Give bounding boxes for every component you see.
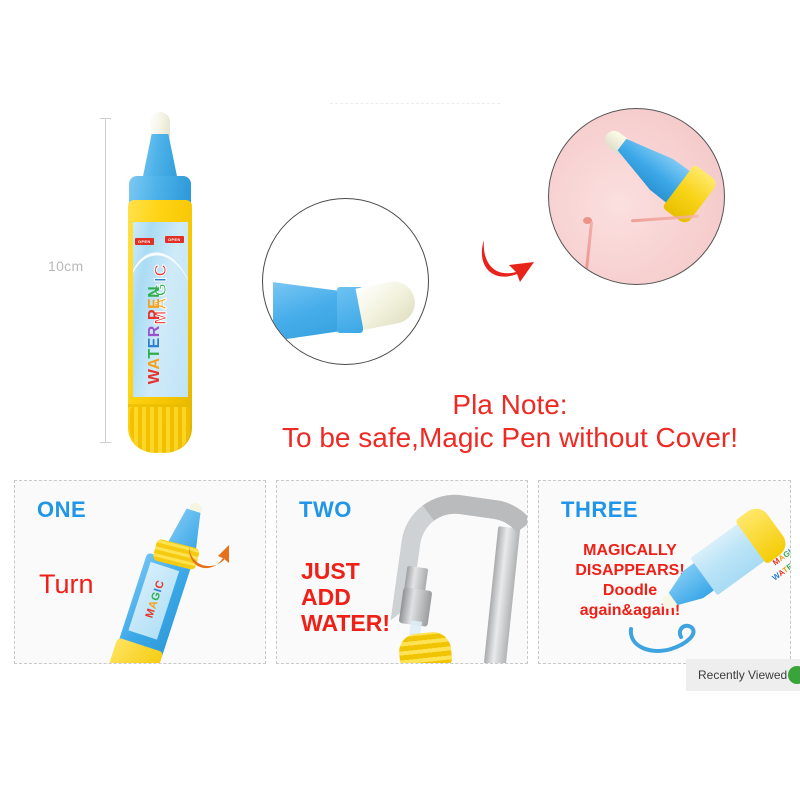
steps-panel-row: ONE Turn MAGIC TWO JUST ADD WATER! [14, 480, 789, 662]
step-panel-three: THREE MAGICALLY DISAPPEARS! Doodle again… [538, 480, 791, 664]
safety-note: Pla Note: To be safe,Magic Pen without C… [225, 388, 795, 454]
size-label: 10cm [48, 258, 83, 274]
rotate-arrow-icon [185, 539, 231, 579]
pen-cap-filling-icon [397, 630, 452, 664]
doodle-icon [627, 619, 713, 659]
pen-label-wrap: OPEN OPEN MAGIC WATER PEN [133, 222, 188, 397]
ink-stroke-vertical [584, 221, 593, 281]
note-line-1: Pla Note: [225, 388, 795, 421]
step-text-two: JUST ADD WATER! [301, 559, 390, 636]
faucet-icon [383, 481, 528, 663]
note-line-2: To be safe,Magic Pen without Cover! [225, 421, 795, 454]
closeup-drawing-pen [584, 108, 725, 244]
pen-drawing-closeup-circle [548, 108, 725, 285]
step-text-one: Turn [39, 569, 94, 600]
measurement-ruler [105, 118, 106, 443]
top-divider-dashed [330, 103, 500, 104]
step-panel-two: TWO JUST ADD WATER! [276, 480, 528, 664]
product-image-canvas: 10cm OPEN OPEN MAGIC WATER PEN [0, 0, 800, 800]
recently-viewed-label: Recently Viewed [698, 668, 787, 682]
pen-tip-closeup-circle [262, 198, 429, 365]
red-swoosh-arrow-icon [478, 232, 540, 288]
step-number-three: THREE [561, 497, 638, 523]
recently-viewed-badge[interactable]: Recently Viewed [686, 659, 800, 691]
pen-label-waterpen: WATER PEN [146, 255, 164, 397]
step-number-two: TWO [299, 497, 352, 523]
closeup-nib-icon [356, 278, 419, 330]
step-panel-one: ONE Turn MAGIC [14, 480, 266, 664]
main-product-pen: OPEN OPEN MAGIC WATER PEN [122, 112, 200, 452]
step-number-one: ONE [37, 497, 86, 523]
pen-grip-icon [130, 407, 190, 453]
refresh-circle-icon[interactable] [788, 666, 800, 684]
